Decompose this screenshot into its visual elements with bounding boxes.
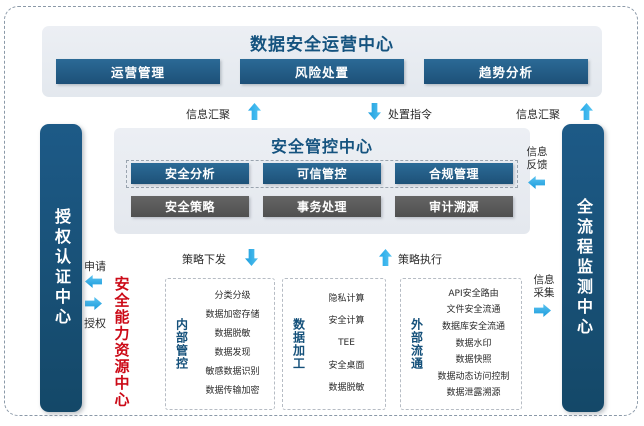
- column-head-label: 数据加工: [291, 318, 306, 370]
- label-apply: 申请: [84, 258, 106, 274]
- column-items-internal-control: 分类分级 数据加密存储 数据脱敏 数据发现 敏感数据识别 数据传输加密: [191, 279, 274, 409]
- security-control-center-title: 安全管控中心: [114, 133, 530, 157]
- security-cell-security-analysis[interactable]: 安全分析: [131, 163, 249, 184]
- label-info-collect-line1: 信息: [528, 274, 560, 286]
- list-item[interactable]: 安全桌面: [328, 361, 364, 372]
- security-cell-compliance-management[interactable]: 合规管理: [395, 163, 513, 184]
- label-policy-execute: 策略执行: [398, 251, 442, 267]
- list-item[interactable]: 数据传输加密: [205, 386, 259, 397]
- operations-center-title: 数据安全运营中心: [42, 30, 602, 55]
- list-item[interactable]: 数据水印: [455, 339, 491, 350]
- label-info-feedback-line1: 信息: [520, 146, 554, 158]
- list-item[interactable]: API安全路由: [448, 289, 498, 300]
- column-head-internal-control: 内部管控: [171, 318, 191, 370]
- list-item[interactable]: 数据加密存储: [205, 310, 259, 321]
- security-capability-resource-center: 安全能力资源中心: [110, 268, 132, 416]
- capability-column-internal-control: 内部管控 分类分级 数据加密存储 数据脱敏 数据发现 敏感数据识别 数据传输加密: [165, 278, 275, 410]
- list-item[interactable]: 分类分级: [214, 291, 250, 302]
- security-cell-audit-traceability[interactable]: 审计溯源: [395, 196, 513, 217]
- column-head-data-processing: 数据加工: [288, 318, 308, 370]
- security-secondary-row: 安全策略 事务处理 审计溯源: [131, 196, 513, 218]
- pillar-full-process-monitoring-center[interactable]: 全流程监测中心: [562, 124, 604, 412]
- column-head-external-circulation: 外部流通: [406, 318, 426, 370]
- list-item[interactable]: 数据脱敏: [214, 329, 250, 340]
- list-item[interactable]: 文件安全流通: [446, 305, 500, 316]
- list-item[interactable]: 数据库安全流通: [442, 322, 505, 333]
- capability-column-data-processing: 数据加工 隐私计算 安全计算 TEE 安全桌面 数据脱敏: [282, 278, 386, 410]
- ops-button-trend-analysis[interactable]: 趋势分析: [424, 59, 588, 84]
- security-primary-row: 安全分析 可信管控 合规管理: [131, 163, 513, 185]
- security-cell-transaction-processing[interactable]: 事务处理: [263, 196, 381, 217]
- list-item[interactable]: 安全计算: [328, 316, 364, 327]
- list-item[interactable]: 隐私计算: [328, 294, 364, 305]
- resource-center-label: 安全能力资源中心: [112, 276, 131, 408]
- pillar-authorization-certification-center[interactable]: 授权认证中心: [40, 124, 82, 412]
- list-item[interactable]: 数据脱敏: [328, 383, 364, 394]
- diagram-root: 数据安全运营中心 运营管理 风险处置 趋势分析 信息汇聚 处置指令 信息汇聚 安…: [0, 0, 644, 426]
- list-item[interactable]: 敏感数据识别: [205, 367, 259, 378]
- security-cell-security-policy[interactable]: 安全策略: [131, 196, 249, 217]
- label-info-aggregate-left: 信息汇聚: [186, 106, 230, 122]
- capability-column-external-circulation: 外部流通 API安全路由 文件安全流通 数据库安全流通 数据水印 数据快照 数据…: [400, 278, 522, 410]
- operations-center-panel: 数据安全运营中心 运营管理 风险处置 趋势分析: [42, 26, 602, 97]
- operations-center-buttons: 运营管理 风险处置 趋势分析: [56, 59, 588, 85]
- security-control-center-panel: 安全管控中心 安全分析 可信管控 合规管理 安全策略 事务处理 审计溯源: [114, 128, 530, 234]
- ops-button-risk-disposal[interactable]: 风险处置: [240, 59, 404, 84]
- list-item[interactable]: 数据快照: [455, 355, 491, 366]
- security-cell-trusted-control[interactable]: 可信管控: [263, 163, 381, 184]
- label-dispatch-command: 处置指令: [388, 106, 432, 122]
- list-item[interactable]: 数据发现: [214, 348, 250, 359]
- list-item[interactable]: 数据泄露溯源: [446, 388, 500, 399]
- pillar-right-label: 全流程监测中心: [573, 198, 593, 338]
- pillar-left-label: 授权认证中心: [51, 208, 71, 328]
- column-head-label: 外部流通: [409, 318, 424, 370]
- column-head-label: 内部管控: [174, 318, 189, 370]
- label-info-feedback-line2: 反馈: [520, 159, 554, 171]
- label-info-collect-line2: 采集: [528, 287, 560, 299]
- list-item[interactable]: 数据动态访问控制: [437, 372, 509, 383]
- list-item[interactable]: TEE: [338, 338, 355, 349]
- label-policy-issue: 策略下发: [182, 251, 226, 267]
- column-items-data-processing: 隐私计算 安全计算 TEE 安全桌面 数据脱敏: [308, 279, 385, 409]
- ops-button-operations-management[interactable]: 运营管理: [56, 59, 220, 84]
- column-items-external-circulation: API安全路由 文件安全流通 数据库安全流通 数据水印 数据快照 数据动态访问控…: [426, 279, 521, 409]
- label-authorize: 授权: [84, 315, 106, 331]
- label-info-aggregate-right: 信息汇聚: [516, 106, 560, 122]
